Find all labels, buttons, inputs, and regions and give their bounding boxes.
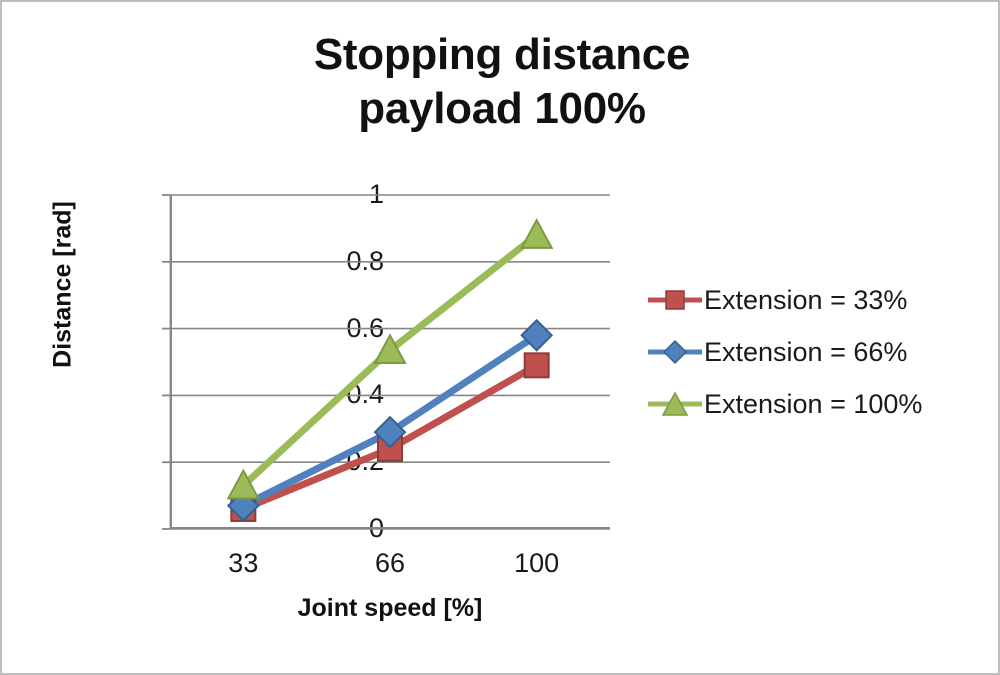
legend-key-svg [646,389,704,419]
x-tick-label: 100 [477,550,597,577]
legend-key-svg [646,337,704,367]
chart-screenshot: Stopping distance payload 100% Distance … [0,0,1000,675]
data-point-square [525,353,549,377]
data-point-triangle [522,220,552,248]
x-tick-label: 66 [330,550,450,577]
chart-legend: Extension = 33%Extension = 66%Extension … [646,274,922,430]
marker-triangle [522,220,552,248]
chart-title-line-2: payload 100% [2,82,1000,136]
legend-key-square-icon [646,285,704,315]
legend-label: Extension = 66% [704,337,907,368]
chart-title-line-1: Stopping distance [314,30,690,79]
legend-item[interactable]: Extension = 33% [646,274,922,326]
legend-marker-square [666,291,684,309]
legend-key-diamond-icon [646,337,704,367]
plot-area [170,195,610,529]
legend-marker-diamond [664,341,686,363]
legend-key-svg [646,285,704,315]
marker-square [525,353,549,377]
legend-item[interactable]: Extension = 66% [646,326,922,378]
legend-label: Extension = 33% [704,285,907,316]
x-axis-title: Joint speed [%] [170,594,610,623]
x-tick-label: 33 [183,550,303,577]
legend-label: Extension = 100% [704,389,922,420]
plot-canvas [170,195,610,529]
legend-key-triangle-icon [646,389,704,419]
legend-item[interactable]: Extension = 100% [646,378,922,430]
y-axis-title: Distance [rad] [49,170,78,400]
chart-title: Stopping distance payload 100% [2,28,1000,135]
